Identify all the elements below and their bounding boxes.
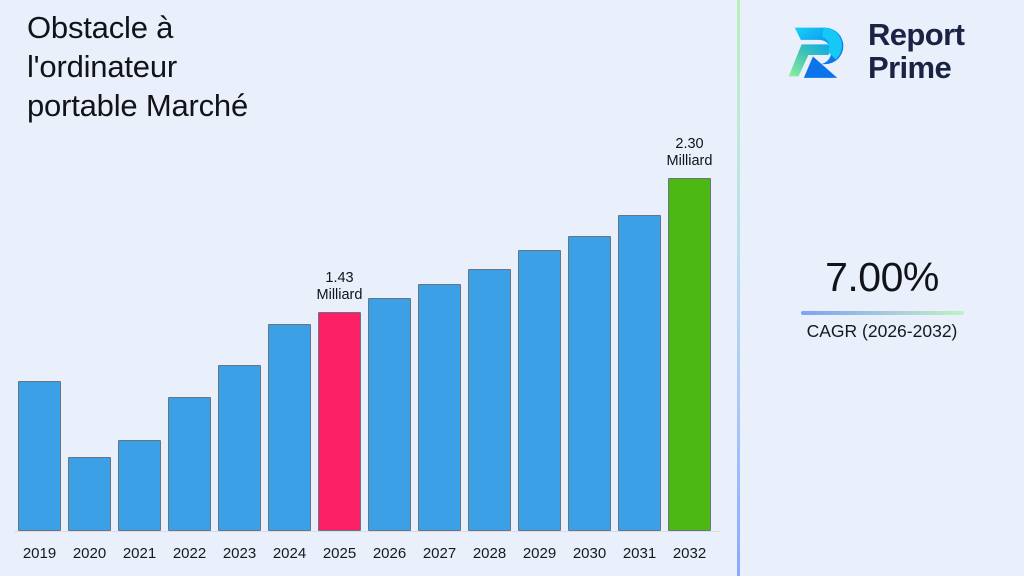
report-prime-logo-icon	[778, 14, 854, 90]
x-tick-2021: 2021	[114, 545, 165, 562]
bar-2020	[68, 457, 111, 531]
cagr-divider-rule	[801, 311, 964, 315]
x-tick-2023: 2023	[214, 545, 265, 562]
bar-2019	[18, 381, 61, 531]
bar-2029	[518, 250, 561, 531]
x-tick-2022: 2022	[164, 545, 215, 562]
bar-2022	[168, 397, 211, 531]
chart-panel: Obstacle à l'ordinateur portable Marché …	[0, 0, 738, 576]
bar-2028	[468, 269, 511, 531]
x-tick-2026: 2026	[364, 545, 415, 562]
cagr-value: 7.00%	[740, 254, 1024, 301]
bar-2025	[318, 312, 361, 531]
bar-2021	[118, 440, 161, 531]
bar-2026	[368, 298, 411, 531]
x-tick-2024: 2024	[264, 545, 315, 562]
x-tick-2028: 2028	[464, 545, 515, 562]
bar-2032	[668, 178, 711, 531]
x-tick-2029: 2029	[514, 545, 565, 562]
x-tick-2032: 2032	[664, 545, 715, 562]
cagr-caption: CAGR (2026-2032)	[740, 321, 1024, 342]
chart-screenshot: Obstacle à l'ordinateur portable Marché …	[0, 0, 1024, 576]
x-tick-2025: 2025	[314, 545, 365, 562]
x-tick-2030: 2030	[564, 545, 615, 562]
brand-logo-text: Report Prime	[868, 19, 964, 84]
bar-2027	[418, 284, 461, 531]
brand-logo: Report Prime	[778, 14, 964, 90]
bar-2031	[618, 215, 661, 531]
bar-2030	[568, 236, 611, 531]
x-tick-2027: 2027	[414, 545, 465, 562]
bar-chart-plot: 2019202020212022202320241.43 Milliard202…	[0, 0, 738, 576]
x-tick-2031: 2031	[614, 545, 665, 562]
bar-2023	[218, 365, 261, 531]
cagr-block: 7.00% CAGR (2026-2032)	[740, 254, 1024, 342]
x-tick-2019: 2019	[14, 545, 65, 562]
bar-2024	[268, 324, 311, 531]
info-panel: Report Prime 7.00% CAGR (2026-2032)	[740, 0, 1024, 576]
x-axis-line	[14, 531, 720, 532]
x-tick-2020: 2020	[64, 545, 115, 562]
bar-value-label-2032: 2.30 Milliard	[646, 136, 733, 170]
